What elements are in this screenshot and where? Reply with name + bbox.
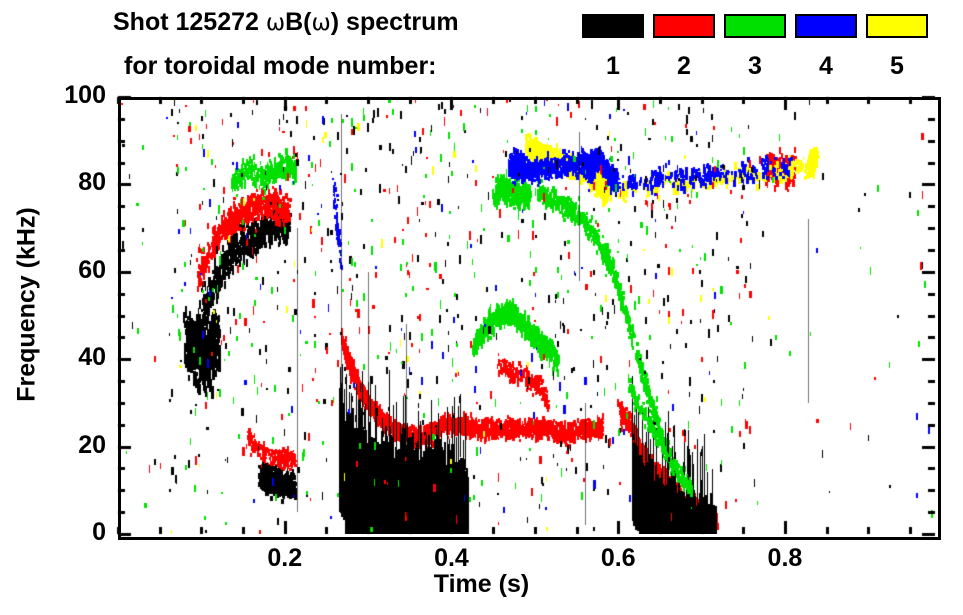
y-tick-0: 0	[36, 518, 106, 547]
y-tick-40: 40	[36, 343, 106, 372]
y-tick-100: 100	[36, 81, 106, 110]
spectrogram-figure: Shot 125272 ωB(ω) spectrum for toroidal …	[0, 0, 963, 615]
x-tick-0.2: 0.2	[240, 544, 330, 573]
y-axis-label: Frequency (kHz)	[13, 145, 42, 465]
legend-swatch-4	[795, 14, 857, 38]
legend-swatch-3	[724, 14, 786, 38]
legend-label-3: 3	[724, 52, 786, 81]
x-tick-0.4: 0.4	[406, 544, 496, 573]
legend-label-2: 2	[653, 52, 715, 81]
legend-swatch-1	[582, 14, 644, 38]
x-tick-0.6: 0.6	[573, 544, 663, 573]
legend-label-4: 4	[795, 52, 857, 81]
legend: 12345	[0, 0, 963, 95]
y-tick-20: 20	[36, 431, 106, 460]
y-tick-80: 80	[36, 168, 106, 197]
plot-area	[118, 97, 935, 534]
legend-swatch-5	[866, 14, 928, 38]
legend-label-5: 5	[866, 52, 928, 81]
x-axis-label: Time (s)	[0, 570, 963, 599]
legend-swatch-2	[653, 14, 715, 38]
spectrogram-canvas	[118, 97, 935, 534]
legend-label-1: 1	[582, 52, 644, 81]
x-tick-0.8: 0.8	[740, 544, 830, 573]
y-tick-60: 60	[36, 256, 106, 285]
